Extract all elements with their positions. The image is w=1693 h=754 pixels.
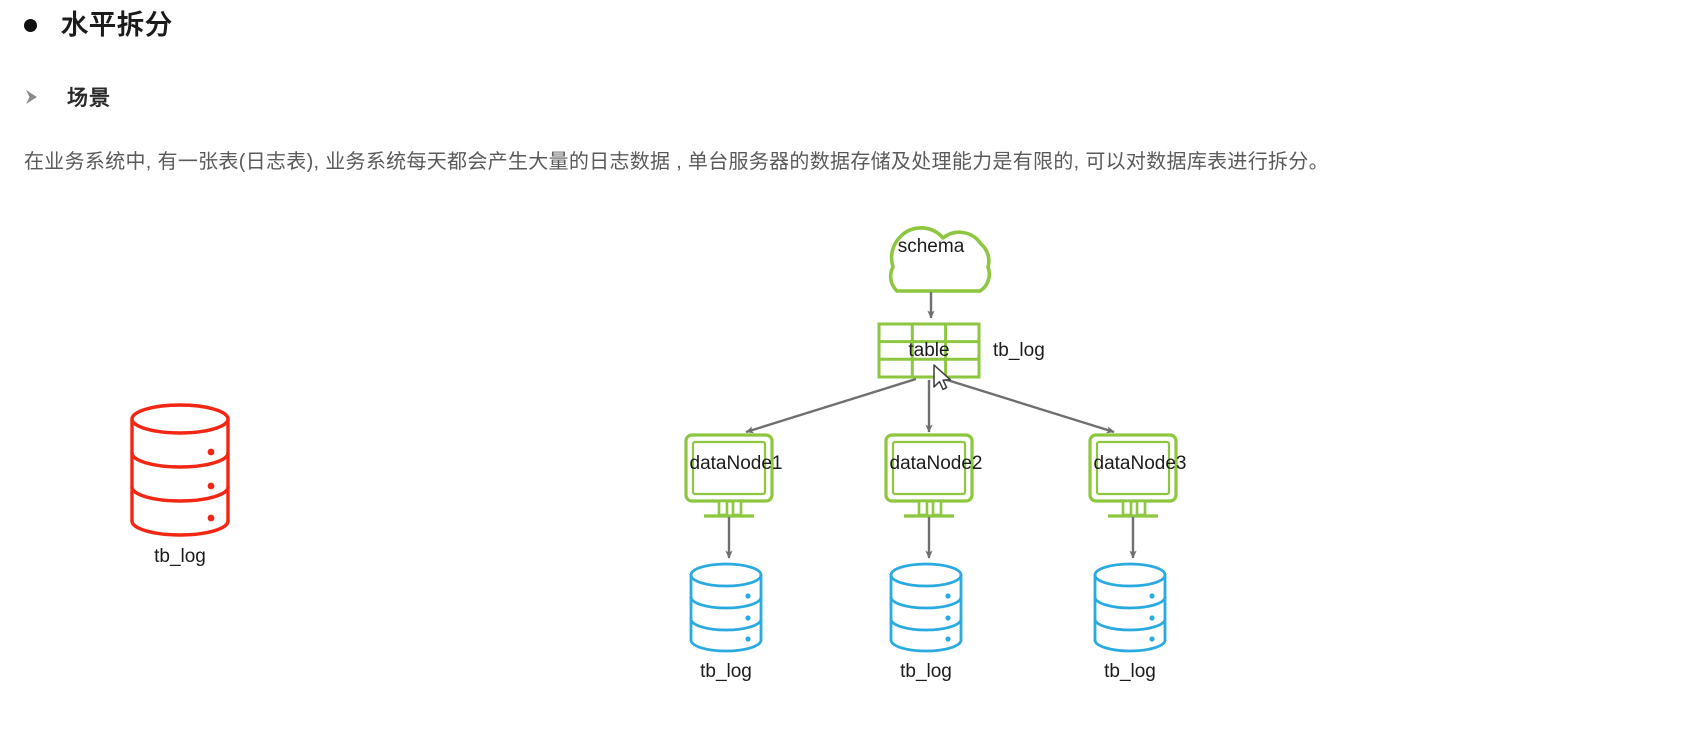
node-label-1: dataNode1 xyxy=(690,453,783,475)
server-monitor-icon-1 xyxy=(686,435,772,516)
arrow-table-to-node3 xyxy=(944,379,1114,432)
section-heading: 水平拆分 xyxy=(24,8,173,42)
table-side-label: tb_log xyxy=(993,340,1045,362)
arrow-bullet-icon xyxy=(24,87,41,107)
node-database-icon-1 xyxy=(691,564,761,651)
page-title: 水平拆分 xyxy=(61,8,173,42)
node-label-3: dataNode3 xyxy=(1094,453,1187,475)
architecture-diagram: tb_log schema table tb_log dataNode1 dat… xyxy=(0,200,1693,754)
table-label: table xyxy=(908,340,949,362)
source-database-icon xyxy=(132,405,228,535)
body-paragraph: 在业务系统中, 有一张表(日志表), 业务系统每天都会产生大量的日志数据 , 单… xyxy=(24,140,1554,184)
diagram-canvas xyxy=(0,200,1693,754)
node-database-icon-2 xyxy=(891,564,961,651)
node-database-label-1: tb_log xyxy=(700,661,752,683)
source-database-label: tb_log xyxy=(154,546,206,568)
node-database-icon-3 xyxy=(1095,564,1165,651)
node-database-label-3: tb_log xyxy=(1104,661,1156,683)
node-label-2: dataNode2 xyxy=(890,453,983,475)
server-monitor-icon-2 xyxy=(886,435,972,516)
node-database-label-2: tb_log xyxy=(900,661,952,683)
page-root: 水平拆分 场景 在业务系统中, 有一张表(日志表), 业务系统每天都会产生大量的… xyxy=(0,0,1693,754)
arrow-table-to-node1 xyxy=(746,379,916,432)
subsection-heading: 场景 xyxy=(24,82,111,112)
subsection-title: 场景 xyxy=(67,82,111,112)
filled-dot-icon xyxy=(24,19,37,32)
cloud-label: schema xyxy=(898,236,965,258)
server-monitor-icon-3 xyxy=(1090,435,1176,516)
